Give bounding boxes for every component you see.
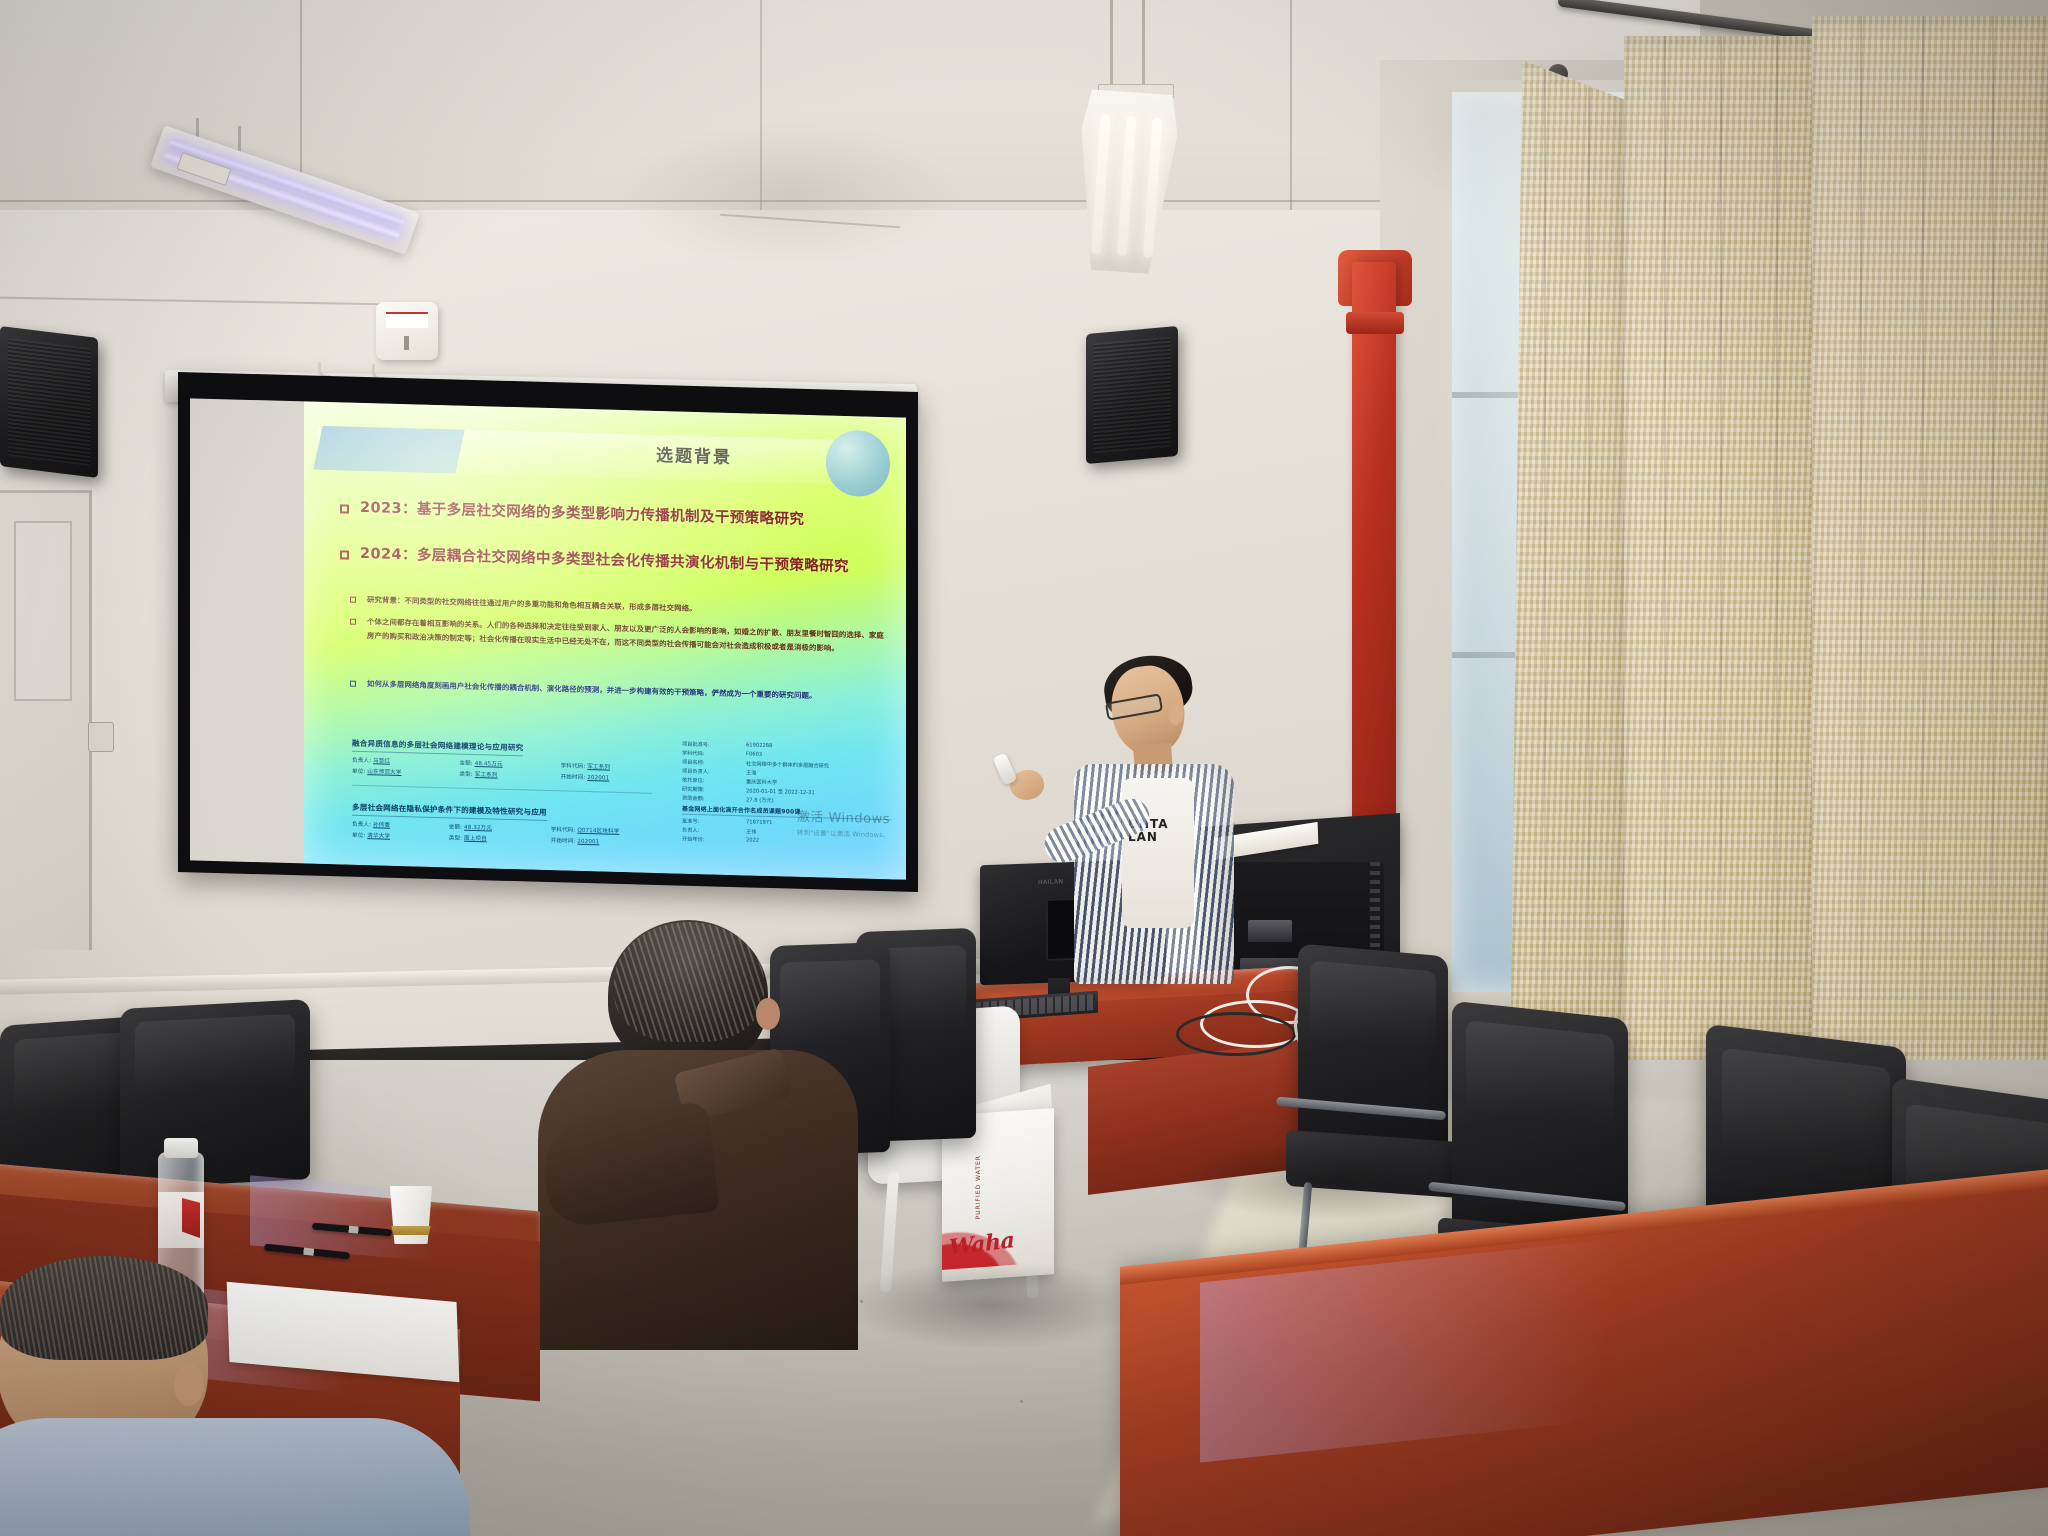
audience-member-seated	[528, 920, 868, 1340]
curtain[interactable]	[1624, 36, 1824, 1146]
project-label: 项目批准号:	[682, 741, 740, 750]
ceiling-seam	[1290, 0, 1292, 210]
slide-decorative-orb	[826, 430, 890, 498]
project-rows: 项目批准号:61902288 学科代码:F0603 项目名称:社交网络中多个群体…	[682, 741, 882, 807]
bullet-square-icon	[340, 504, 349, 513]
classroom-photo-scene: 选题背景 2023：基于多层社交网络的多类型影响力传播机制及干预策略研究 202…	[0, 0, 2048, 1536]
audience-hair	[614, 922, 764, 1042]
ceiling-seam	[300, 0, 302, 200]
citation-card: 多层社会网络在隐私保护条件下的建模及特性研究与应用 负责人: 孙伟壹 金额: 4…	[352, 795, 662, 847]
citation-field: 金额: 48.32万元	[449, 822, 535, 832]
watermark-line-1: 激活 Windows	[797, 806, 890, 828]
bottle-cap	[164, 1138, 198, 1158]
sub-bullet-text: 研究背景：不同类型的社交网络往往通过用户的多重功能和角色相互耦合关联，形成多层社…	[367, 593, 697, 616]
speaker-grille	[8, 338, 90, 466]
bullet-square-icon	[350, 619, 356, 625]
carton-subtext: PURIFIED WATER	[975, 1155, 982, 1220]
bottle-label	[158, 1192, 204, 1248]
windows-activation-watermark: 激活 Windows 转到"设置"以激活 Windows。	[797, 806, 890, 840]
foreground-audience-member	[0, 1268, 490, 1536]
curtain-fold	[1860, 16, 1862, 1196]
curtain-fold	[1720, 36, 1722, 1146]
project-value: 2022	[746, 837, 892, 848]
paper-cup-band	[390, 1226, 432, 1235]
project-label: 项目负责人:	[682, 768, 740, 777]
curtain[interactable]	[1812, 16, 2048, 1196]
audience-ear	[756, 998, 780, 1030]
project-label: 负责人:	[682, 827, 740, 836]
citation-field: 开始时间: 202001	[551, 836, 662, 847]
office-chair[interactable]	[120, 999, 310, 1189]
citation-fields: 负责人: 孙伟壹 金额: 48.32万元 学科代码: Q0714区块科学 单位:…	[352, 820, 662, 847]
wall-speaker	[1086, 326, 1178, 464]
slide-sub-bullet: 个体之间都存在着相互影响的关系。人们的各种选择和决定往往受到家人、朋友以及更广泛…	[350, 615, 886, 657]
curtain-fold	[1544, 60, 1546, 1100]
door-panel	[14, 521, 72, 701]
sub-bullet-text: 如何从多层网络角度刻画用户社会化传播的耦合机制、演化路径的预测，并进一步构建有效…	[367, 677, 816, 703]
sub-bullet-text: 个体之间都存在着相互影响的关系。人们的各种选择和决定往往受到家人、朋友以及更广泛…	[367, 615, 886, 656]
curtain-fold	[1664, 36, 1666, 1146]
citation-field: 类型: 面上项目	[449, 833, 535, 843]
bullet-text: 基于多层社交网络的多类型影响力传播机制及干预策略研究	[417, 501, 804, 527]
citation-divider	[352, 785, 652, 794]
citation-field: 负责人: 马慧红	[352, 756, 443, 766]
citation-field: 单位: 山东师范大学	[352, 767, 443, 777]
slide-bullet: 2023：基于多层社交网络的多类型影响力传播机制及干预策略研究	[340, 498, 880, 531]
project-label: 研究期限:	[682, 786, 740, 795]
bullet-square-icon	[350, 597, 356, 603]
curtain-fold	[1588, 60, 1590, 1100]
citation-field: 学科代码: Q0714区块科学	[551, 825, 662, 836]
office-chair[interactable]	[1298, 943, 1448, 1156]
project-label: 资助金额:	[682, 795, 740, 804]
ceiling-seam	[0, 200, 1400, 202]
fluorescent-tube	[1091, 114, 1111, 254]
project-label: 项目名称:	[682, 759, 740, 768]
curtain-fold	[1776, 36, 1778, 1146]
curtain-fold	[1922, 16, 1924, 1196]
bullet-year-label: 2024：	[360, 546, 417, 564]
light-suspension-rod	[1142, 0, 1145, 96]
project-label: 开始年份:	[682, 836, 740, 845]
citation-fields: 负责人: 马慧红 金额: 48.45万元 学科代码: 军工系列 单位: 山东师范…	[352, 756, 652, 783]
presentation-slide: 选题背景 2023：基于多层社交网络的多类型影响力传播机制及干预策略研究 202…	[304, 401, 906, 879]
fire-standpipe	[1352, 262, 1396, 882]
citation-field: 开始时间: 202001	[561, 772, 652, 782]
slide-sub-bullet: 如何从多层网络角度刻画用户社会化传播的耦合机制、演化路径的预测，并进一步构建有效…	[350, 677, 886, 705]
foreground-shirt	[0, 1418, 470, 1536]
slide-title-accent-tab	[313, 426, 464, 474]
citation-card: 融合异质信息的多层社会网络建模理论与应用研究 负责人: 马慧红 金额: 48.4…	[352, 731, 652, 783]
device-slot	[404, 336, 409, 350]
project-label: 批准号:	[682, 818, 740, 827]
presenter-ear	[1168, 704, 1183, 725]
citation-title: 多层社会网络在隐私保护条件下的建模及特性研究与应用	[352, 802, 547, 821]
projector-screen-surface: 选题背景 2023：基于多层社交网络的多类型影响力传播机制及干预策略研究 202…	[190, 398, 906, 879]
floor-speck	[1020, 1400, 1023, 1403]
wall-socket[interactable]	[88, 722, 114, 752]
citation-field: 单位: 清华大学	[352, 831, 433, 841]
smoke-alarm-device	[376, 302, 438, 360]
office-chair[interactable]	[1452, 1001, 1628, 1249]
door[interactable]	[0, 490, 92, 950]
speaker-grille	[1093, 337, 1170, 453]
paper-cup[interactable]	[388, 1186, 434, 1244]
bottle-label-graphic	[182, 1198, 200, 1238]
citation-field: 类型: 军工系列	[459, 770, 544, 780]
bullet-square-icon	[350, 681, 356, 687]
light-suspension-rod	[1110, 0, 1113, 96]
project-label: 依托单位:	[682, 777, 740, 786]
citation-field: 负责人: 孙伟壹	[352, 820, 433, 830]
project-info-panel: 项目批准号:61902288 学科代码:F0603 项目名称:社交网络中多个群体…	[682, 738, 882, 807]
citation-field: 学科代码: 军工系列	[561, 761, 652, 771]
device-label	[386, 312, 428, 328]
citation-field: 金额: 48.45万元	[459, 759, 544, 769]
wall-speaker	[0, 326, 98, 478]
presenter-person: DNTA LAN	[1050, 666, 1240, 1006]
bullet-square-icon	[340, 550, 349, 559]
foreground-ear	[174, 1364, 204, 1406]
bullet-text: 多层耦合社交网络中多类型社会化传播共演化机制与干预策略研究	[417, 547, 849, 575]
slide-bullet: 2024：多层耦合社交网络中多类型社会化传播共演化机制与干预策略研究	[340, 544, 900, 577]
citation-title: 融合异质信息的多层社会网络建模理论与应用研究	[352, 738, 523, 757]
bullet-year-label: 2023：	[360, 500, 417, 518]
cable-loop	[1176, 1012, 1296, 1056]
fluorescent-tube	[1117, 116, 1137, 256]
project-label: 学科代码:	[682, 750, 740, 759]
foreground-hair	[0, 1256, 208, 1360]
curtain-fold	[1992, 16, 1994, 1196]
slide-title: 选题背景	[604, 440, 784, 470]
curtain[interactable]	[1510, 60, 1630, 1100]
rack-equipment	[1248, 920, 1292, 942]
fire-standpipe-collar	[1346, 312, 1404, 334]
